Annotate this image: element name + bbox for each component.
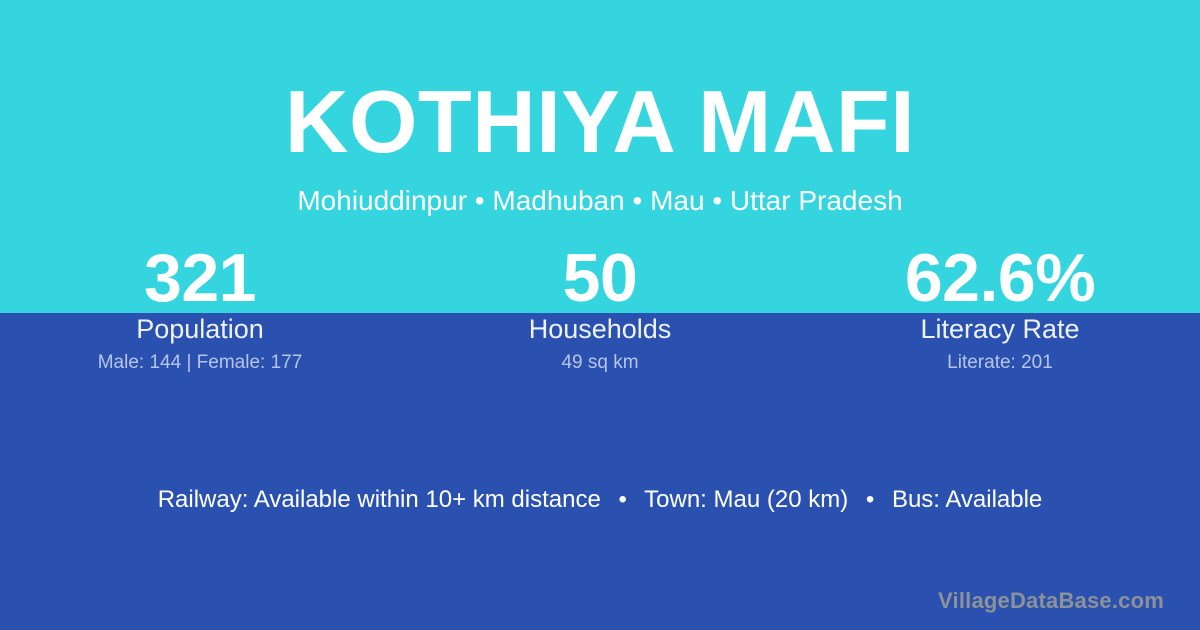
page-title: KOTHIYA MAFI [0,0,1200,166]
breadcrumb: Mohiuddinpur • Madhuban • Mau • Uttar Pr… [0,166,1200,215]
stat-households-sub: 49 sq km [400,352,800,374]
facility-town: Town: Mau (20 km) [644,486,848,513]
facility-separator-2: • [855,485,885,515]
stat-population: 321 Population Male: 144 | Female: 177 [0,243,400,374]
stat-households-value: 50 [400,243,800,313]
stat-population-label: Population [0,314,400,344]
stat-households: 50 Households 49 sq km [400,243,800,374]
facility-separator-1: • [608,485,638,515]
stat-population-sub: Male: 144 | Female: 177 [0,352,400,374]
stat-literacy-rate: 62.6% Literacy Rate Literate: 201 [800,243,1200,374]
card-header: KOTHIYA MAFI Mohiuddinpur • Madhuban • M… [0,0,1200,215]
facilities-line: Railway: Available within 10+ km distanc… [0,485,1200,515]
site-watermark: VillageDataBase.com [938,588,1164,614]
stat-population-value: 321 [0,243,400,313]
stat-literacy-rate-sub: Literate: 201 [800,352,1200,374]
village-info-card: KOTHIYA MAFI Mohiuddinpur • Madhuban • M… [0,0,1200,630]
facility-bus: Bus: Available [892,486,1042,513]
stat-literacy-rate-label: Literacy Rate [800,314,1200,344]
stat-literacy-rate-value: 62.6% [800,243,1200,313]
facility-railway: Railway: Available within 10+ km distanc… [158,486,601,513]
stat-households-label: Households [400,314,800,344]
stats-row: 321 Population Male: 144 | Female: 177 5… [0,243,1200,374]
